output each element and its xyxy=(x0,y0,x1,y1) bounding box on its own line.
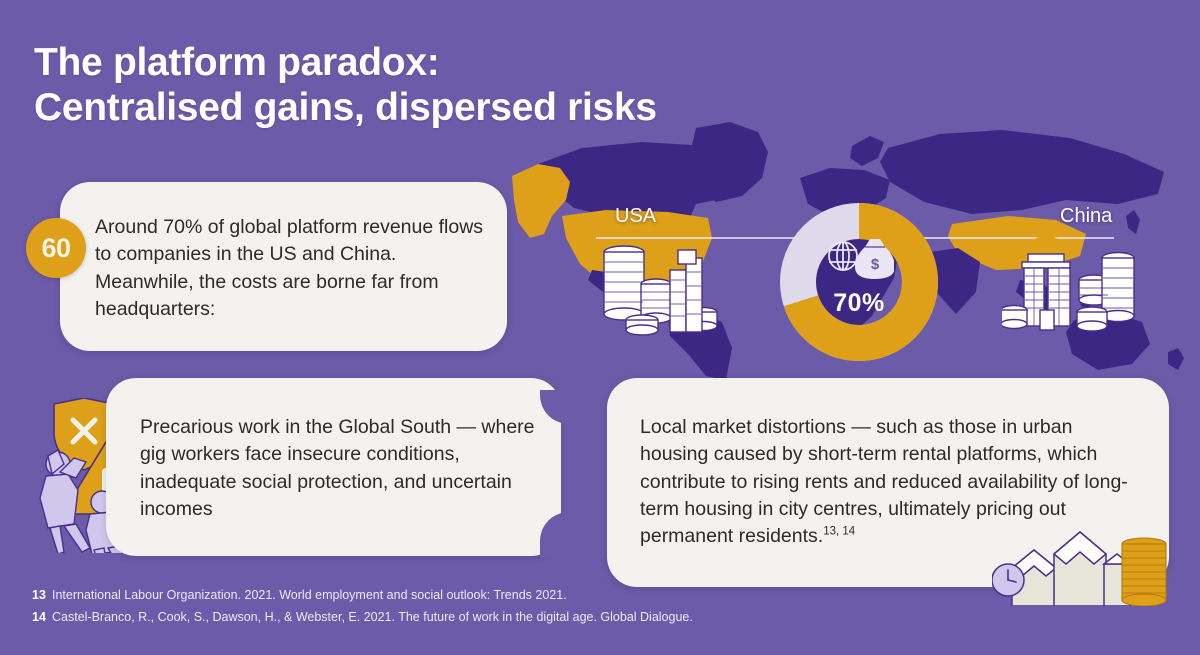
svg-text:$: $ xyxy=(871,256,880,273)
slide-canvas: The platform paradox: Centralised gains,… xyxy=(0,0,1200,655)
footnote-text: International Labour Organization. 2021.… xyxy=(52,588,567,604)
footnote-number: 13 xyxy=(32,588,52,602)
page-title: The platform paradox: Centralised gains,… xyxy=(34,40,657,130)
card-connector-bottom xyxy=(540,512,598,558)
donut-chart-svg xyxy=(778,201,940,363)
footnote-item: 13 International Labour Organization. 20… xyxy=(32,588,1132,604)
map-label-china: China xyxy=(1060,205,1112,228)
usa-buildings-coins-illustration xyxy=(600,232,720,340)
stat-card-text: Around 70% of global platform revenue fl… xyxy=(95,214,495,323)
footnote-item: 14 Castel-Branco, R., Cook, S., Dawson, … xyxy=(32,610,1132,626)
stat-card-platform-revenue: Around 70% of global platform revenue fl… xyxy=(60,182,507,351)
footnote-ref: 13, 14 xyxy=(823,526,855,538)
map-label-usa: USA xyxy=(615,205,656,228)
footnote-text: Castel-Branco, R., Cook, S., Dawson, H.,… xyxy=(52,610,693,626)
footnote-number: 14 xyxy=(32,610,52,624)
footnotes: 13 International Labour Organization. 20… xyxy=(32,588,1132,631)
risk-card-global-south: Precarious work in the Global South — wh… xyxy=(106,378,561,556)
donut-center-label: 70% xyxy=(778,289,940,318)
donut-chart: $ 70% xyxy=(778,201,940,363)
risk-card-global-south-text: Precarious work in the Global South — wh… xyxy=(140,414,540,523)
globe-money-bag-icon: $ xyxy=(824,235,894,281)
stat-badge-number: 60 xyxy=(26,218,86,278)
china-buildings-coins-illustration xyxy=(1002,226,1137,342)
